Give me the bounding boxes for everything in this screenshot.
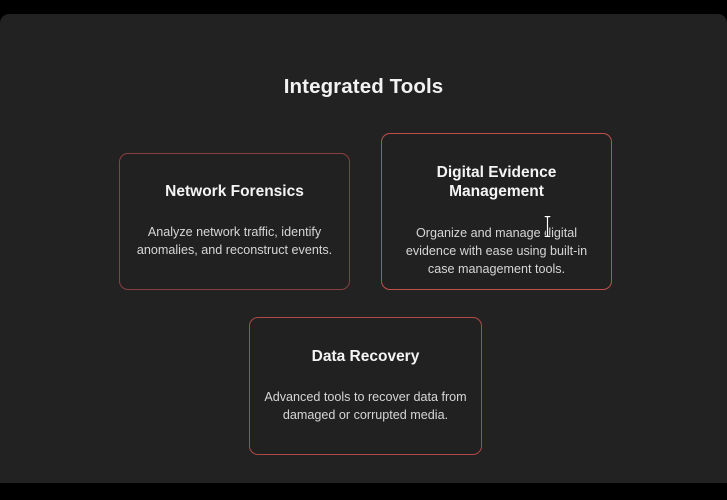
page-title: Integrated Tools (0, 75, 727, 99)
viewport: Integrated Tools Network Forensics Analy… (0, 0, 727, 500)
card-data-recovery[interactable]: Data Recovery Advanced tools to recover … (249, 317, 482, 455)
card-network-forensics[interactable]: Network Forensics Analyze network traffi… (119, 153, 350, 290)
card-description: Analyze network traffic, identify anomal… (134, 223, 335, 259)
card-description: Advanced tools to recover data from dama… (264, 388, 467, 424)
page-panel: Integrated Tools Network Forensics Analy… (0, 14, 727, 483)
card-title: Digital Evidence Management (396, 163, 597, 201)
card-title: Data Recovery (264, 347, 467, 366)
card-description: Organize and manage digital evidence wit… (396, 224, 597, 278)
card-title: Network Forensics (134, 182, 335, 201)
card-digital-evidence-management[interactable]: Digital Evidence Management Organize and… (381, 133, 612, 290)
